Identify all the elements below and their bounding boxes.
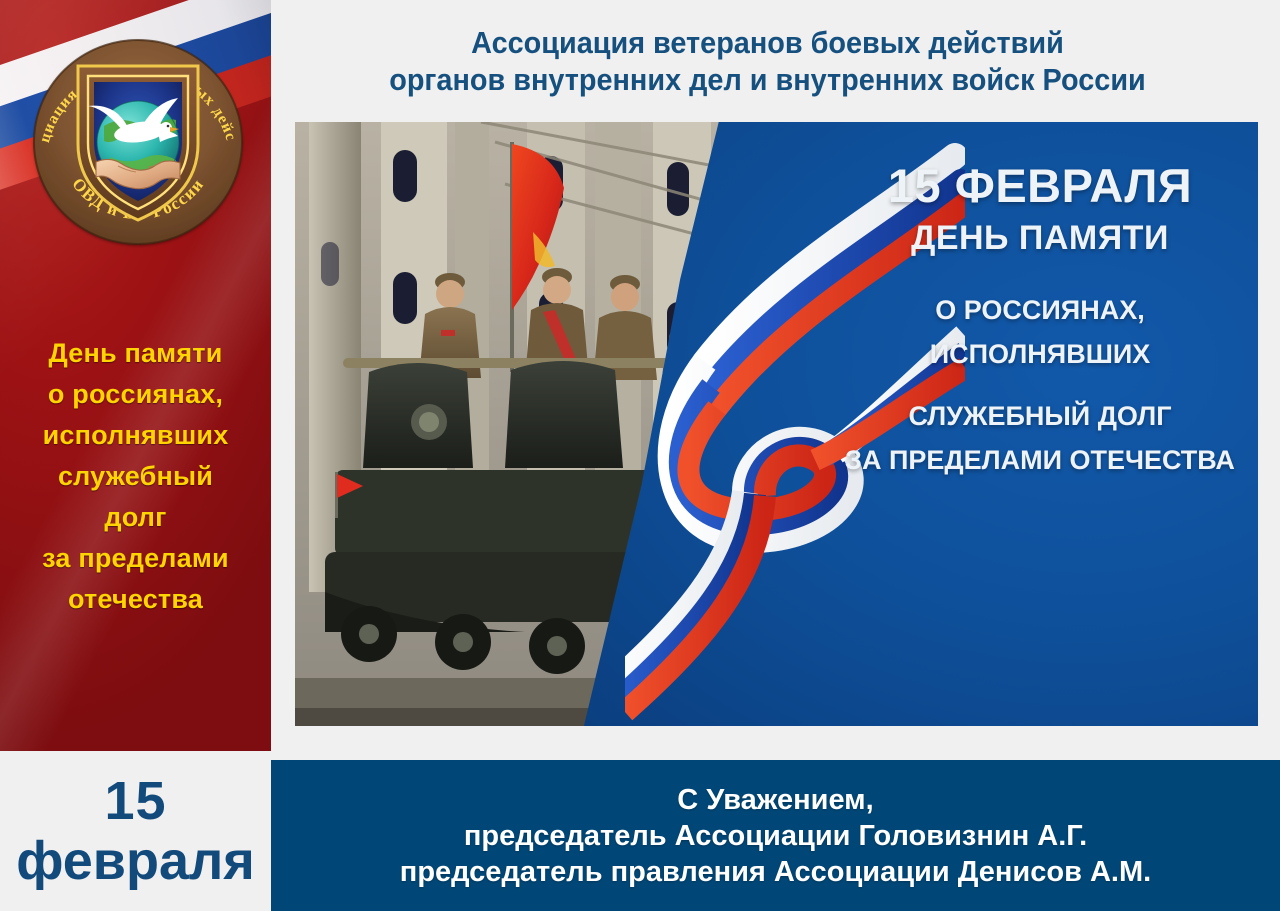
page-title: Ассоциация ветеранов боевых действий орг…: [319, 24, 1216, 98]
poster-line-2: ДЕНЬ ПАМЯТИ: [835, 214, 1245, 262]
poster-line-6: ЗА ПРЕДЕЛАМИ ОТЕЧЕСТВА: [835, 438, 1245, 482]
signature-footer: С Уважением, председатель Ассоциации Гол…: [271, 760, 1280, 911]
date-block: 15 февраля: [0, 751, 271, 911]
poster-line-5: СЛУЖЕБНЫЙ ДОЛГ: [835, 394, 1245, 438]
poster-line-3: О РОССИЯНАХ,: [835, 288, 1245, 332]
footer-line-2: председатель Ассоциации Головизнин А.Г.: [464, 818, 1087, 854]
slogan-line-6: за пределами: [0, 538, 271, 579]
commemorative-poster: 15 ФЕВРАЛЯ ДЕНЬ ПАМЯТИ О РОССИЯНАХ, ИСПО…: [295, 122, 1258, 726]
poster-line-4: ИСПОЛНЯВШИХ: [835, 332, 1245, 376]
title-line-2: органов внутренних дел и внутренних войс…: [319, 61, 1216, 98]
poster-text-block: 15 ФЕВРАЛЯ ДЕНЬ ПАМЯТИ О РОССИЯНАХ, ИСПО…: [835, 160, 1245, 482]
slogan-line-5: долг: [0, 497, 271, 538]
footer-line-3: председатель правления Ассоциации Денисо…: [400, 854, 1151, 890]
left-red-panel: Ассоциация ветеранов боевых действий ОВД…: [0, 0, 271, 751]
slogan-line-3: исполнявших: [0, 415, 271, 456]
poster-line-1: 15 ФЕВРАЛЯ: [835, 160, 1245, 212]
slogan-line-4: служебный: [0, 456, 271, 497]
footer-line-1: С Уважением,: [677, 782, 873, 818]
title-line-1: Ассоциация ветеранов боевых действий: [319, 24, 1216, 61]
date-month: февраля: [16, 834, 255, 888]
slogan-line-1: День памяти: [0, 333, 271, 374]
association-emblem: Ассоциация ветеранов боевых действий ОВД…: [18, 14, 258, 254]
poster-page: Ассоциация ветеранов боевых действий ОВД…: [0, 0, 1280, 911]
slogan-line-7: отечества: [0, 579, 271, 620]
slogan-line-2: о россиянах,: [0, 374, 271, 415]
sidebar-slogan: День памяти о россиянах, исполнявших слу…: [0, 333, 271, 620]
date-day: 15: [104, 774, 166, 828]
